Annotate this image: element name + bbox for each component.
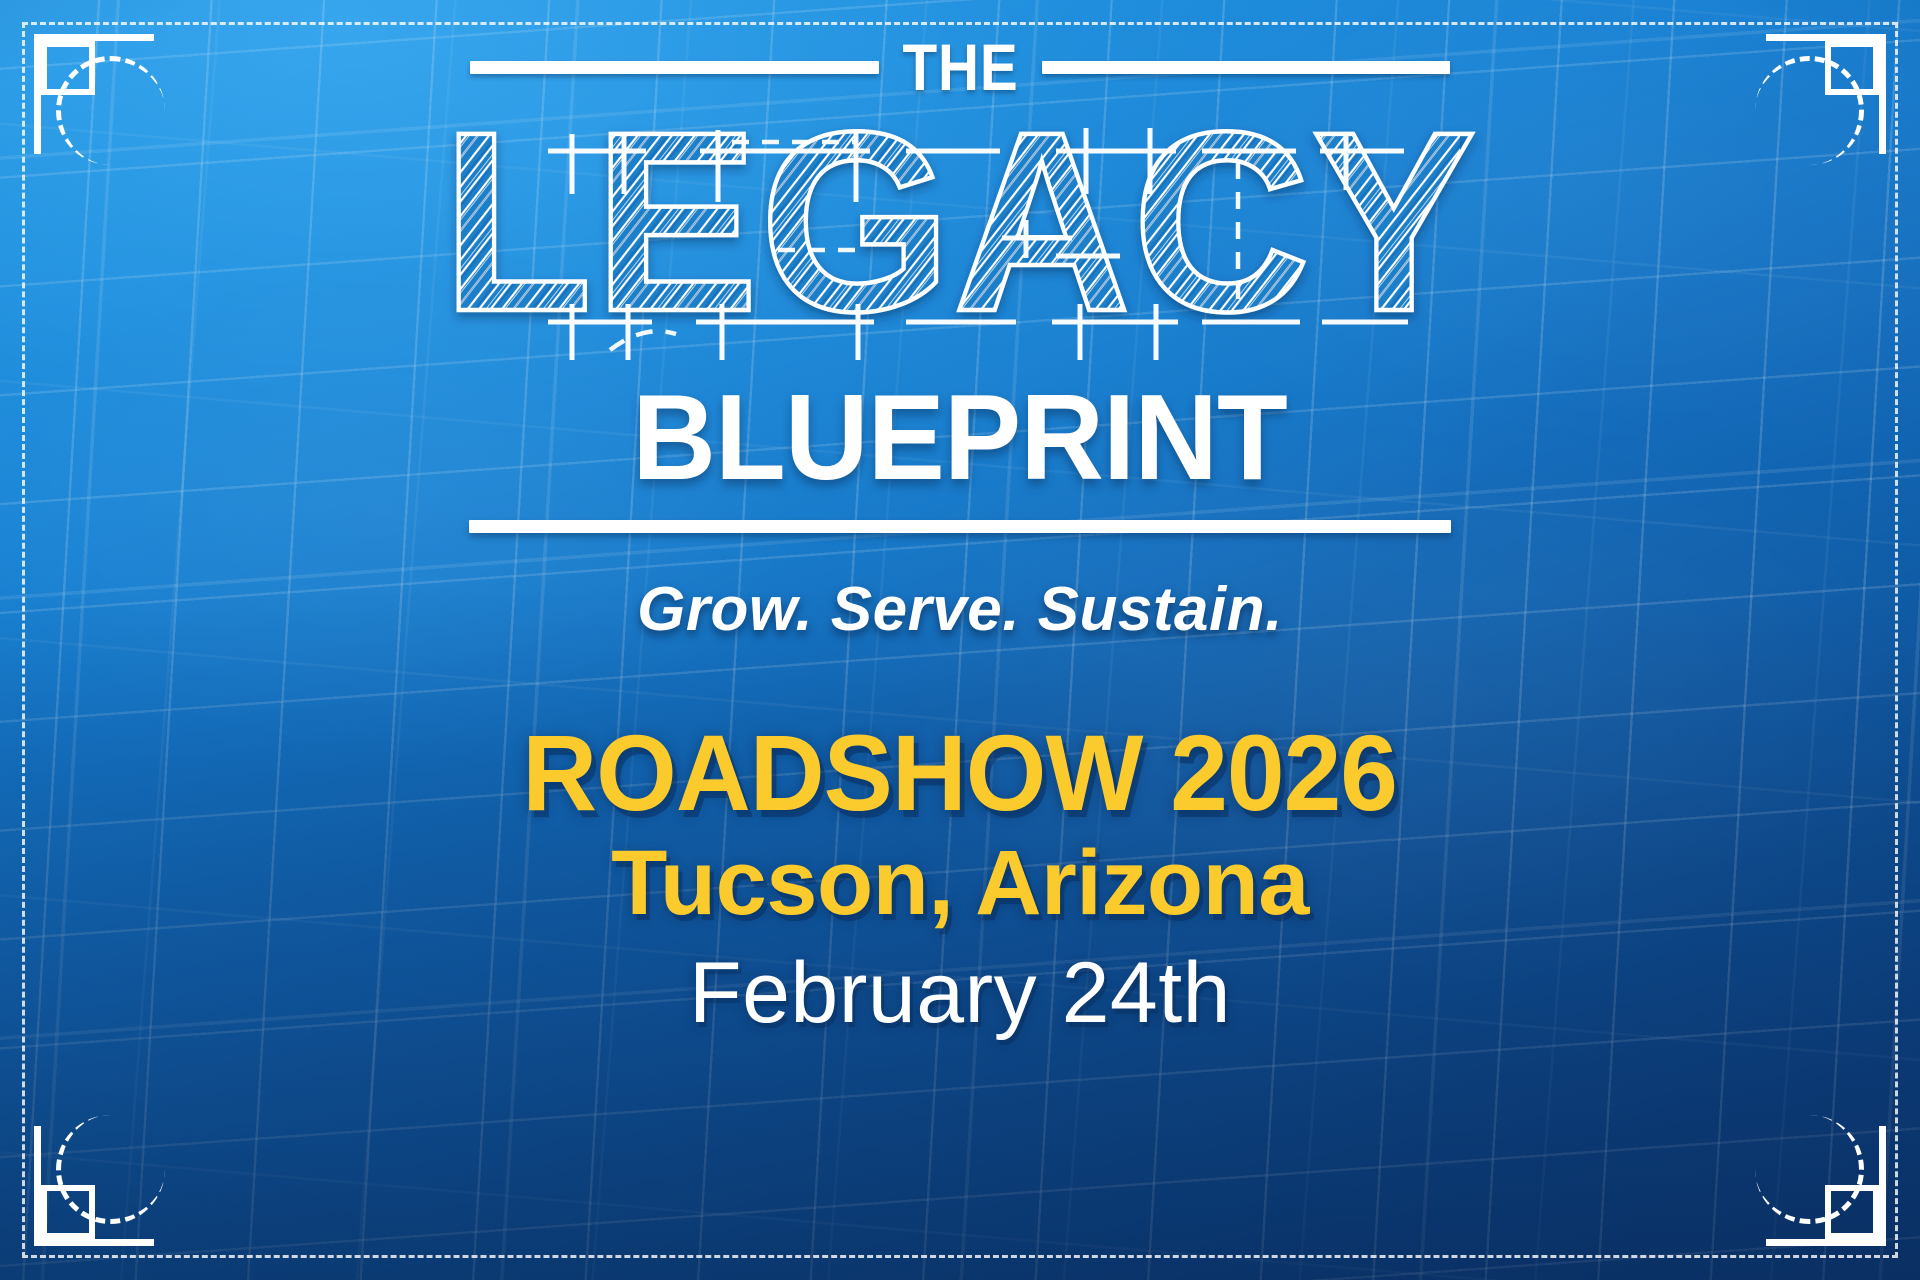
event-headline: ROADSHOW 2026 — [523, 719, 1398, 827]
blueprint-underline-rule — [469, 520, 1451, 533]
event-date: February 24th — [689, 948, 1231, 1038]
wordmark-blueprint: BLUEPRINT — [633, 376, 1288, 498]
wordmark-legacy: LEGACY LEGACY — [460, 98, 1460, 378]
tagline: Grow. Serve. Sustain. — [637, 579, 1283, 641]
poster-canvas: THE — [0, 0, 1920, 1280]
eyebrow-rule-right — [1042, 61, 1451, 74]
eyebrow-rule-left — [470, 61, 879, 74]
legacy-hatched-svg: LEGACY LEGACY — [460, 98, 1460, 378]
event-location: Tucson, Arizona — [611, 835, 1309, 932]
poster-content: THE — [0, 0, 1920, 1280]
